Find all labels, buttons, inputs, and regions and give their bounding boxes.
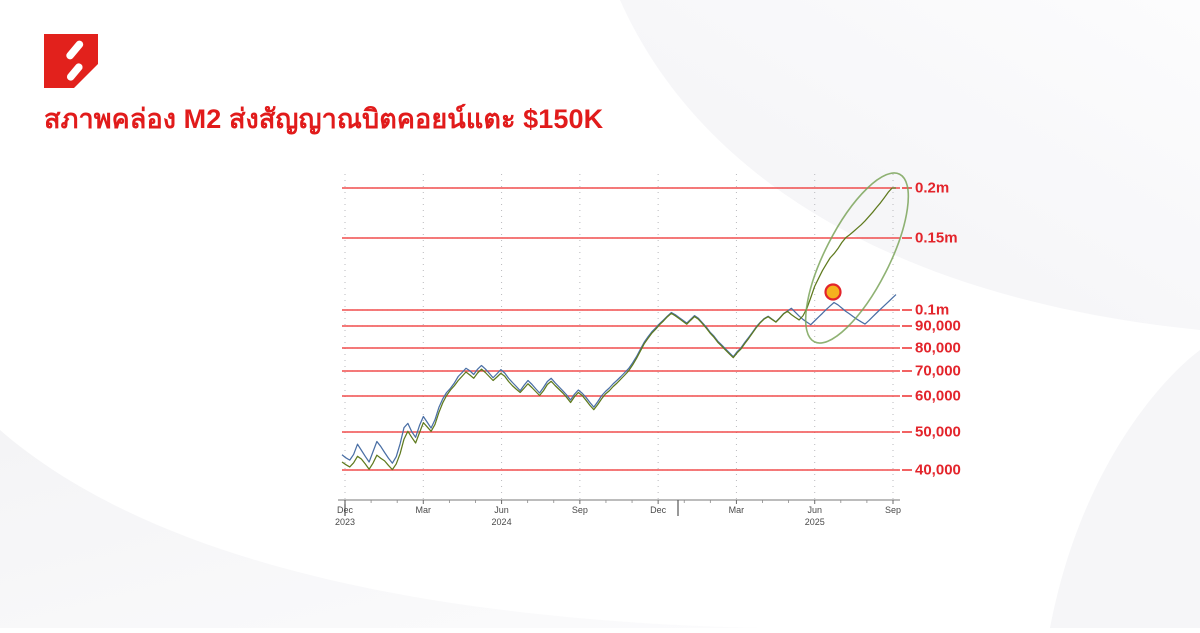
y-tick-label: 0.1m [915,302,949,319]
price-point-marker [826,285,841,300]
chart-container: 0.2m0.15m0.1m90,00080,00070,00060,00050,… [0,0,1200,628]
y-tick-label: 90,000 [915,318,961,335]
y-tick-label: 60,000 [915,388,961,405]
y-tick-label: 0.15m [915,230,958,247]
series-line-m2-global-liquidity [342,188,896,470]
horizontal-gridlines-faint [342,188,900,470]
y-tick-label: 0.2m [915,180,949,197]
x-axis-tickmarks [345,500,893,504]
x-tick-label: Jun [807,505,822,515]
y-tick-label: 50,000 [915,424,961,441]
x-tick-label: Dec [337,505,353,515]
x-tick-label: Jun [494,505,509,515]
y-tick-label: 40,000 [915,462,961,479]
x-tick-label: Sep [572,505,588,515]
x-tick-label: Sep [885,505,901,515]
x-tick-year-label: 2023 [335,517,355,527]
series-lines [342,188,896,470]
brand-logo-icon [44,34,98,88]
y-tick-label: 70,000 [915,363,961,380]
x-tick-label: Mar [416,505,432,515]
brand-header [44,34,98,88]
x-tick-label: Mar [729,505,745,515]
series-line-bitcoin-price [342,295,896,464]
x-tick-year-label: 2025 [805,517,825,527]
vertical-gridlines [345,174,893,500]
x-tick-year-label: 2024 [492,517,512,527]
x-tick-label: Dec [650,505,666,515]
liquidity-vs-bitcoin-line-chart [0,0,1200,628]
page-title: สภาพคล่อง M2 ส่งสัญญาณบิตคอยน์แตะ $150K [44,103,603,137]
y-tick-label: 80,000 [915,340,961,357]
